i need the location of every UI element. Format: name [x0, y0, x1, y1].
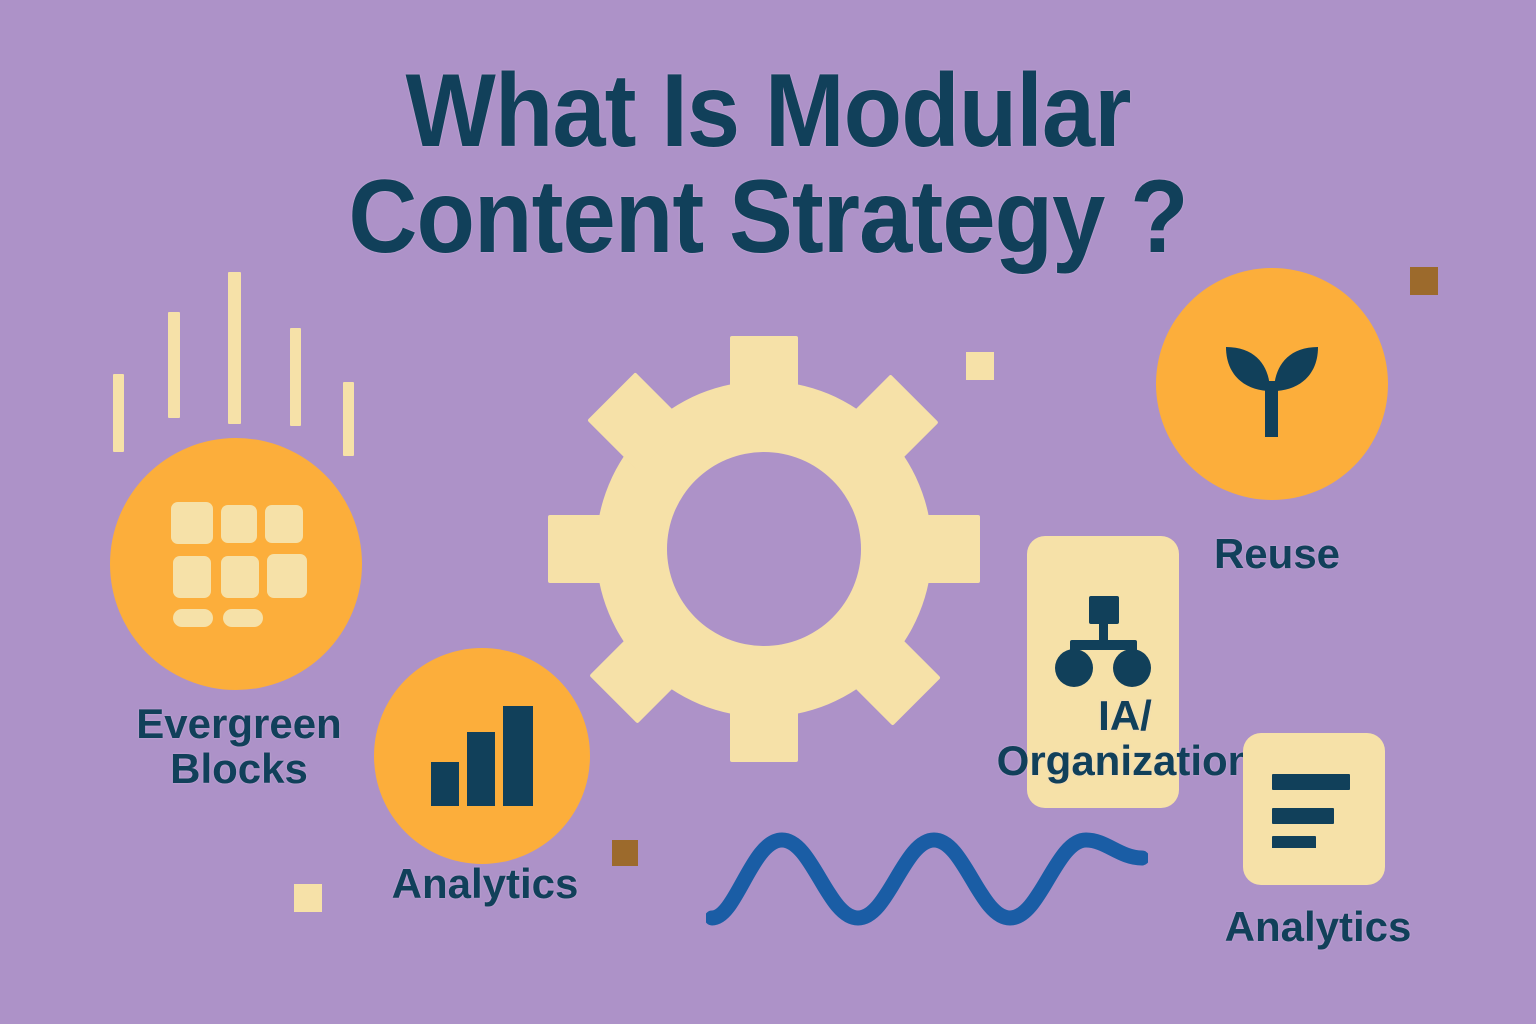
vertical-bar-decoration-5: [343, 382, 354, 456]
document-lines-icon: [1272, 770, 1356, 848]
node-evergreen-blocks[interactable]: [110, 438, 362, 690]
bar-chart-icon: [429, 706, 535, 806]
node-reuse[interactable]: [1156, 268, 1388, 500]
vertical-bar-decoration-1: [113, 374, 124, 452]
infographic-canvas: What Is Modular Content Strategy ?: [0, 0, 1536, 1024]
square-decoration-brown-bottom-center: [612, 840, 638, 866]
caption-reuse: Reuse: [1152, 532, 1402, 577]
sine-wave-decoration: [706, 826, 1148, 930]
vertical-bar-decoration-2: [168, 312, 180, 418]
vertical-bar-decoration-3: [228, 272, 241, 424]
vertical-bar-decoration-4: [290, 328, 301, 426]
caption-evergreen-blocks: Evergreen Blocks: [64, 702, 414, 791]
node-analytics-document[interactable]: [1243, 733, 1385, 885]
sitemap-hierarchy-icon: [1051, 594, 1155, 690]
caption-analytics-document: Analytics: [1178, 905, 1458, 950]
caption-analytics-chart: Analytics: [380, 862, 590, 907]
gear-icon: [548, 336, 980, 762]
grid-blocks-icon: [171, 502, 301, 626]
page-title: What Is Modular Content Strategy ?: [61, 58, 1474, 270]
sprout-icon: [1212, 329, 1332, 439]
node-analytics-chart[interactable]: [374, 648, 590, 864]
square-decoration-brown-top-right: [1410, 267, 1438, 295]
square-decoration-cream-bottom-left: [294, 884, 322, 912]
